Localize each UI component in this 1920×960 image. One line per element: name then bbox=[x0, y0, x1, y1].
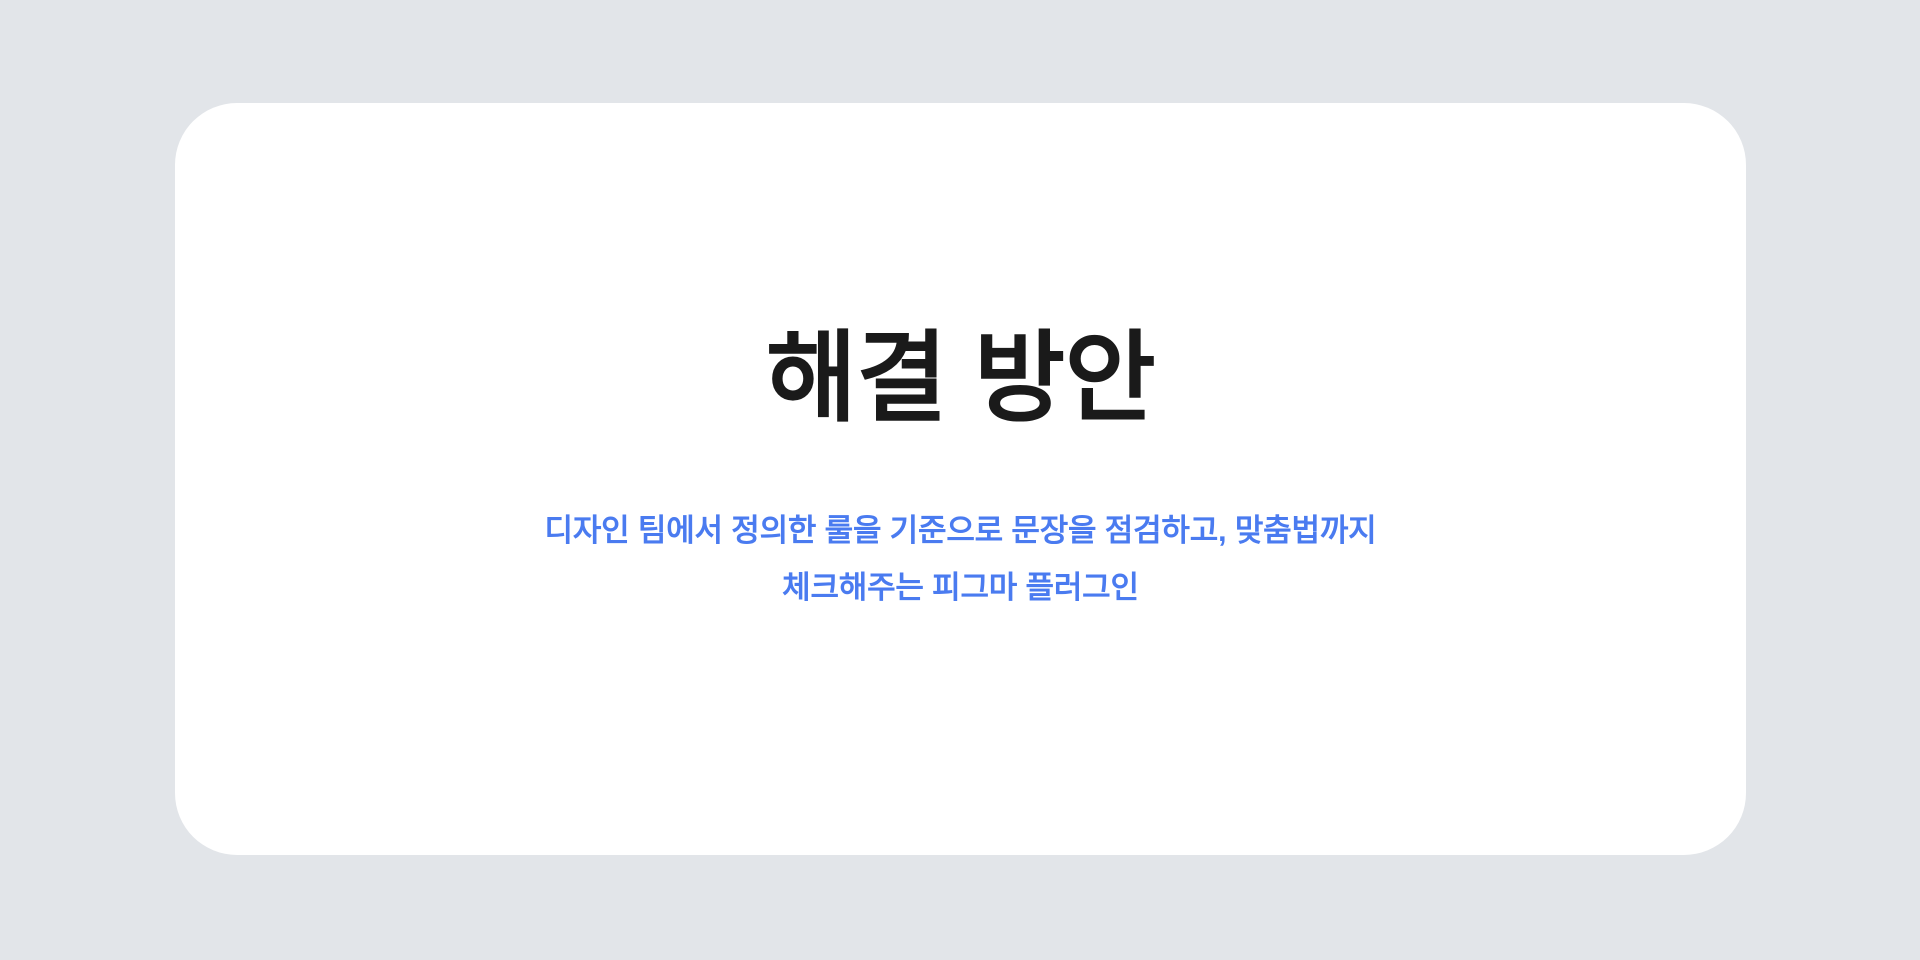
subtitle-line-1: 디자인 팀에서 정의한 룰을 기준으로 문장을 점검하고, 맞춤법까지 bbox=[545, 502, 1377, 559]
slide-subtitle: 디자인 팀에서 정의한 룰을 기준으로 문장을 점검하고, 맞춤법까지 체크해주… bbox=[545, 502, 1377, 616]
page-title: 해결 방안 bbox=[766, 321, 1155, 436]
slide-content-block: 해결 방안 디자인 팀에서 정의한 룰을 기준으로 문장을 점검하고, 맞춤법까… bbox=[175, 321, 1746, 616]
subtitle-line-2: 체크해주는 피그마 플러그인 bbox=[545, 559, 1377, 616]
slide-canvas: 해결 방안 디자인 팀에서 정의한 룰을 기준으로 문장을 점검하고, 맞춤법까… bbox=[0, 0, 1920, 960]
slide-card: 해결 방안 디자인 팀에서 정의한 룰을 기준으로 문장을 점검하고, 맞춤법까… bbox=[175, 103, 1746, 855]
